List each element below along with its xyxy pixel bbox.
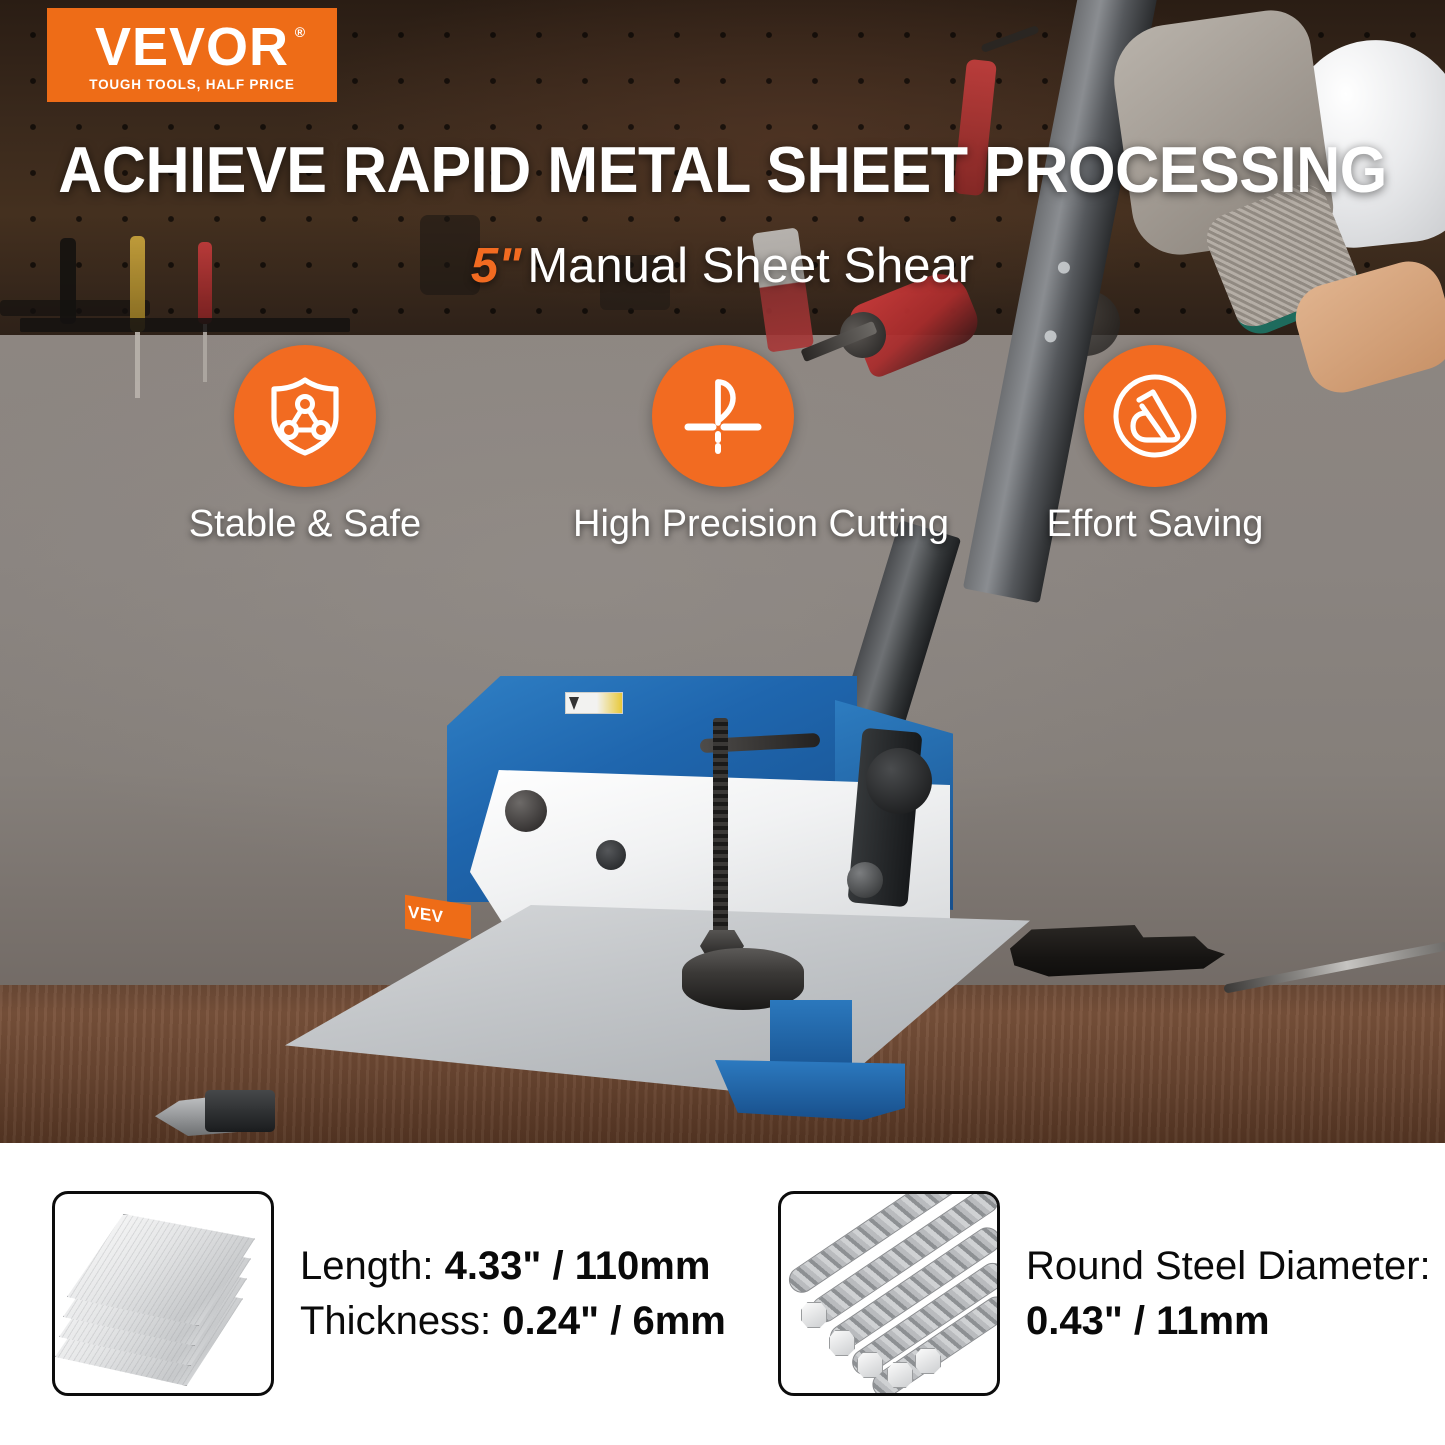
sheet-stack-art xyxy=(63,1208,269,1384)
spec-text-block: Round Steel Diameter: 0.43" / 11mm xyxy=(1026,1239,1431,1348)
feature-label: Effort Saving xyxy=(1005,503,1305,546)
spec-thickness-value: 0.24" / 6mm xyxy=(502,1299,726,1343)
rebar-bundle-image xyxy=(778,1191,1000,1396)
machine-pivot-pin xyxy=(847,862,883,898)
spec-round-steel-capacity: Round Steel Diameter: 0.43" / 11mm xyxy=(778,1191,1431,1396)
spec-length-value: 4.33" / 110mm xyxy=(445,1244,711,1288)
feature-label: Stable & Safe xyxy=(155,503,455,546)
feature-stable-safe: Stable & Safe xyxy=(155,345,455,546)
product-name-label: Manual Sheet Shear xyxy=(527,239,974,293)
machine-warning-label xyxy=(565,692,623,714)
rebar-end-face xyxy=(857,1352,883,1378)
feature-label: High Precision Cutting xyxy=(573,503,873,546)
feature-icon-circle xyxy=(652,345,794,487)
feature-icon-circle xyxy=(1084,345,1226,487)
product-size-label: 5" xyxy=(471,239,521,293)
page-title: ACHIEVE RAPID METAL SHEET PROCESSING xyxy=(43,132,1401,207)
effort-saving-lever-icon xyxy=(1109,370,1201,462)
spec-length-line: Length: 4.33" / 110mm xyxy=(300,1239,726,1293)
rebar-end-face xyxy=(887,1362,913,1388)
rebar-bundle-art xyxy=(787,1202,997,1392)
spec-diameter-label-line: Round Steel Diameter: xyxy=(1026,1239,1431,1293)
rebar-end-face xyxy=(915,1348,941,1374)
product-marketing-image: VEV VEVOR® TOUGH TOOLS, HALF PRICE ACHIE xyxy=(0,0,1445,1445)
metal-sheet-workpiece xyxy=(285,905,1030,1100)
feature-high-precision-cutting: High Precision Cutting xyxy=(573,345,873,546)
clamp-accessory-dark xyxy=(205,1090,275,1132)
machine-base-foot xyxy=(715,1060,905,1120)
shield-check-icon xyxy=(262,373,348,459)
specification-section: Length: 4.33" / 110mm Thickness: 0.24" /… xyxy=(0,1143,1445,1445)
rebar-end-face xyxy=(829,1330,855,1356)
spec-thickness-line: Thickness: 0.24" / 6mm xyxy=(300,1294,726,1348)
page-subtitle: 5"Manual Sheet Shear xyxy=(0,238,1445,294)
spec-thickness-label: Thickness: xyxy=(300,1299,502,1343)
feature-badges: Stable & Safe High Precision Cutting xyxy=(0,345,1445,560)
hold-down-threaded-screw xyxy=(713,718,728,948)
precision-blade-icon xyxy=(680,373,766,459)
spec-length-label: Length: xyxy=(300,1244,445,1288)
machine-knob xyxy=(505,790,547,832)
vevor-logo-wordmark: VEVOR® xyxy=(95,22,289,74)
feature-effort-saving: Effort Saving xyxy=(1005,345,1305,546)
machine-bore-hole xyxy=(596,840,626,870)
metal-sheet-stack-image xyxy=(52,1191,274,1396)
spec-text-block: Length: 4.33" / 110mm Thickness: 0.24" /… xyxy=(300,1239,726,1348)
registered-trademark-icon: ® xyxy=(295,26,306,39)
rebar-end-face xyxy=(801,1302,827,1328)
vevor-logo: VEVOR® TOUGH TOOLS, HALF PRICE xyxy=(47,8,337,102)
vevor-logo-tagline: TOUGH TOOLS, HALF PRICE xyxy=(89,77,294,92)
machine-pivot-hub xyxy=(866,748,932,814)
spec-diameter-value-line: 0.43" / 11mm xyxy=(1026,1294,1431,1348)
spec-sheet-capacity: Length: 4.33" / 110mm Thickness: 0.24" /… xyxy=(52,1191,726,1396)
feature-icon-circle xyxy=(234,345,376,487)
hero-photo: VEV VEVOR® TOUGH TOOLS, HALF PRICE ACHIE xyxy=(0,0,1445,1143)
